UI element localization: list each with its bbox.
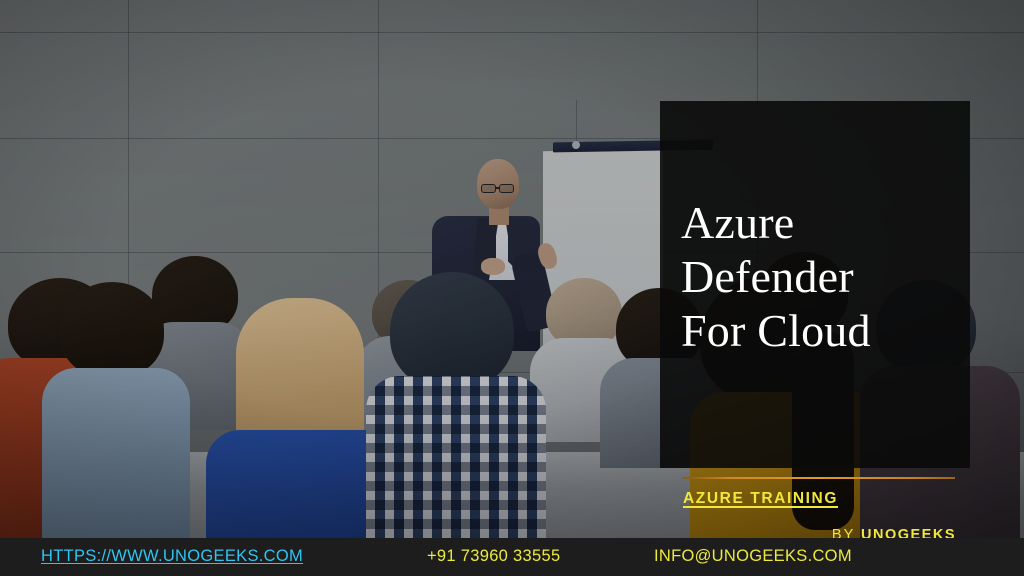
email-address: INFO@UNOGEEKS.COM — [654, 547, 852, 566]
page-title: Azure Defender For Cloud — [681, 196, 957, 358]
title-divider — [683, 477, 955, 479]
phone-number: +91 73960 33555 — [427, 547, 560, 566]
title-panel: Azure Defender For Cloud AZURE TRAINING … — [660, 101, 970, 468]
slide-root: Azure Defender For Cloud AZURE TRAINING … — [0, 0, 1024, 576]
page-title-line-2: Defender — [681, 250, 957, 304]
contact-bar: HTTPS://WWW.UNOGEEKS.COM +91 73960 33555… — [0, 538, 1024, 576]
subtitle-label: AZURE TRAINING — [683, 490, 838, 508]
page-title-line-1: Azure — [681, 196, 957, 250]
website-link[interactable]: HTTPS://WWW.UNOGEEKS.COM — [41, 547, 303, 566]
page-title-line-3: For Cloud — [681, 304, 957, 358]
